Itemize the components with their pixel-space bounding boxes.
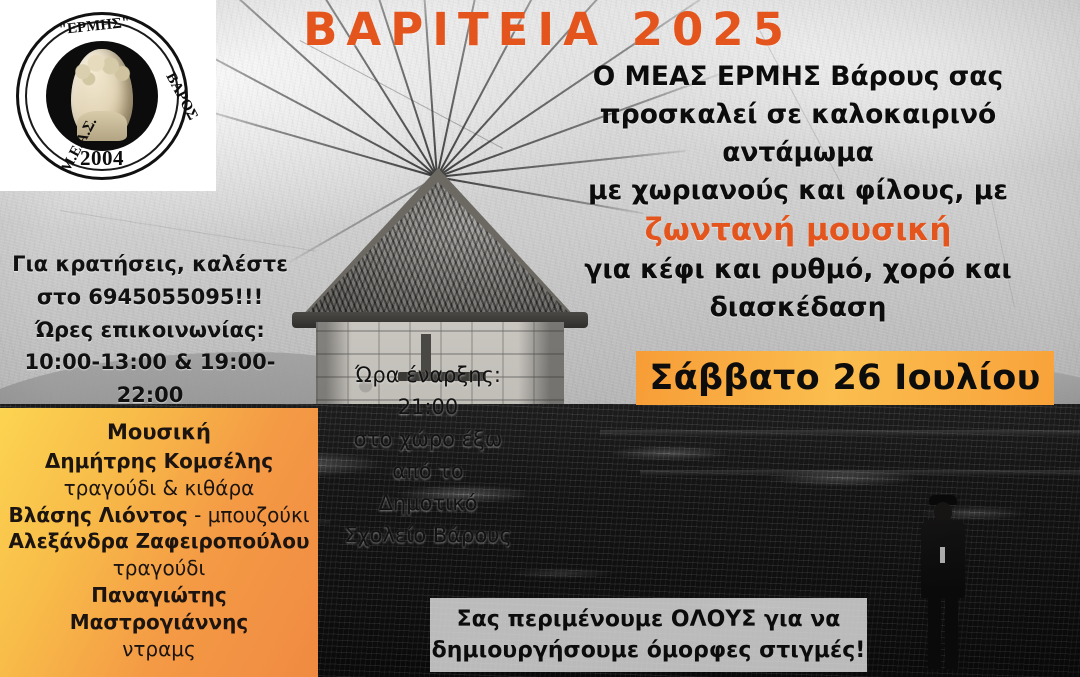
event-date-label: Σάββατο 26 Ιουλίου [649, 358, 1040, 398]
logo-ring-text-right: ΒΑΡΟΣ [161, 70, 200, 123]
reservations-phone-line: στο 6945055095!!! [0, 281, 300, 314]
performer-role-liontos: - μπουζούκι [188, 503, 310, 527]
start-time-venue-info: Ώρα έναρξης: 21:00 στο χώρο έξω από το Δ… [330, 360, 526, 551]
closing-line-1: Σας περιμένουμε ΟΛΟΥΣ για να [457, 604, 841, 635]
invitation-line-2: προσκαλεί σε καλοκαιρινό αντάμωμα [520, 96, 1076, 172]
contact-hours-label: Ώρες επικοινωνίας: [0, 314, 300, 347]
man-leg [928, 595, 941, 669]
event-poster: Μ.Ε.Α.Σ. "ΕΡΜΗΣ" ΒΑΡΟΣ 2004 ΒΑΡΙΤΕΙΑ 202… [0, 0, 1080, 677]
venue-line-3: Δημοτικό [330, 488, 526, 520]
logo-year: 2004 [16, 146, 188, 171]
performer-role-mastrogiannis: ντραμς [0, 636, 318, 663]
reservations-info: Για κρατήσεις, καλέστε στο 6945055095!!!… [0, 248, 300, 412]
event-date-ribbon: Σάββατο 26 Ιουλίου [636, 351, 1054, 405]
closing-message-panel: Σας περιμένουμε ΟΛΟΥΣ για να δημιουργήσο… [430, 598, 867, 672]
man-head [934, 502, 952, 522]
music-lineup-panel: Μουσική Δημήτρης Κομσέλης τραγούδι & κιθ… [0, 408, 318, 677]
performer-role-komselis: τραγούδι & κιθάρα [0, 475, 318, 502]
performer-name-liontos: Βλάσης Λιόντος [8, 503, 187, 527]
poster-title: ΒΑΡΙΤΕΙΑ 2025 [248, 6, 848, 55]
standing-man-figure [912, 495, 974, 677]
venue-line-1: στο χώρο έξω [330, 424, 526, 456]
man-leg [945, 595, 958, 669]
invitation-line-3: με χωριανούς και φίλους, με [520, 172, 1076, 210]
terrace-wall [640, 470, 1080, 477]
performer-name-komselis: Δημήτρης Κομσέλης [0, 448, 318, 475]
man-shirt [940, 547, 945, 563]
performer-liontos: Βλάσης Λιόντος - μπουζούκι [0, 502, 318, 529]
logo-coin-emblem: Μ.Ε.Α.Σ. "ΕΡΜΗΣ" ΒΑΡΟΣ 2004 [16, 12, 188, 180]
contact-hours-value: 10:00-13:00 & 19:00-22:00 [0, 346, 300, 412]
logo-ring-text-top: "ΕΡΜΗΣ" [58, 15, 131, 39]
performer-role-zafeiropoulou: τραγούδι [0, 555, 318, 582]
invitation-text: Ο ΜΕΑΣ ΕΡΜΗΣ Βάρους σας προσκαλεί σε καλ… [520, 58, 1076, 327]
invitation-line-4: για κέφι και ρυθμό, χορό και [520, 251, 1076, 289]
live-music-highlight: ζωντανή μουσική [520, 210, 1076, 252]
closing-line-2: δημιουργήσουμε όμορφες στιγμές! [432, 635, 866, 666]
venue-line-4: Σχολείο Βάρους [330, 520, 526, 552]
invitation-line-1: Ο ΜΕΑΣ ΕΡΜΗΣ Βάρους σας [520, 58, 1076, 96]
reservations-line-1: Για κρατήσεις, καλέστε [0, 248, 300, 281]
invitation-line-5: διασκέδαση [520, 289, 1076, 327]
start-time-value: 21:00 [330, 392, 526, 424]
performer-name-zafeiropoulou: Αλεξάνδρα Ζαφειροπούλου [0, 528, 318, 555]
venue-line-2: από το [330, 456, 526, 488]
club-logo: Μ.Ε.Α.Σ. "ΕΡΜΗΣ" ΒΑΡΟΣ 2004 [0, 0, 216, 191]
music-heading: Μουσική [0, 420, 318, 444]
start-time-label: Ώρα έναρξης: [330, 360, 526, 392]
performer-name-mastrogiannis: Παναγιώτης Μαστρογιάννης [0, 582, 318, 636]
terrace-wall [600, 430, 1080, 438]
